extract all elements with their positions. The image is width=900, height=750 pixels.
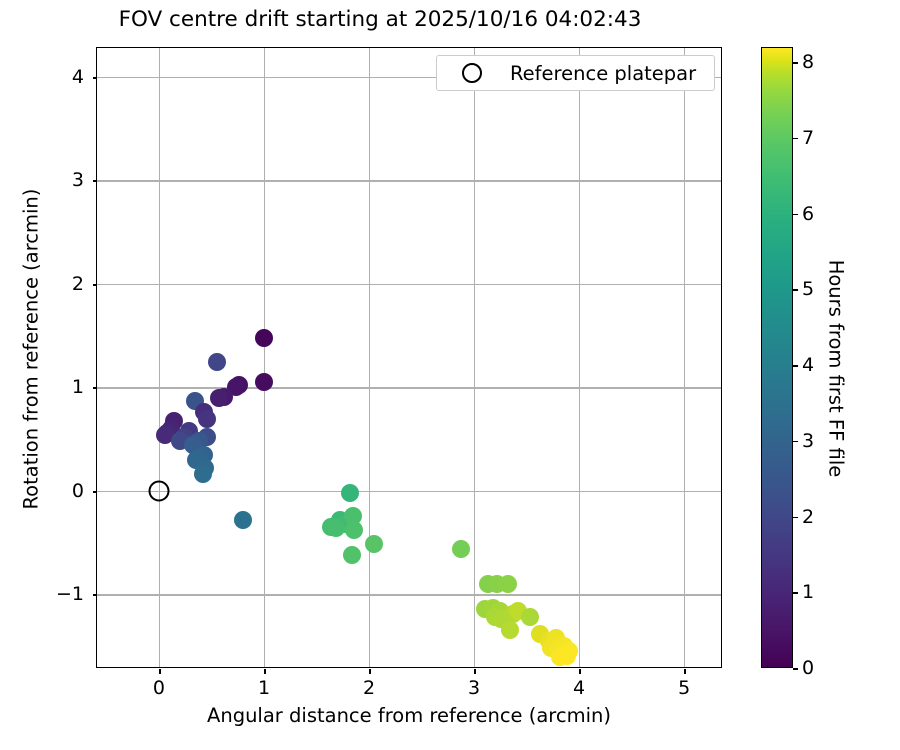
gridline-horizontal (97, 180, 721, 181)
colorbar-gradient (761, 47, 793, 668)
scatter-point (194, 465, 212, 483)
colorbar-tick-label: 4 (802, 354, 814, 376)
colorbar-tick-label: 8 (802, 51, 814, 73)
x-tick (579, 669, 581, 674)
scatter-point (345, 521, 363, 539)
reference-platepar-marker (148, 480, 169, 501)
gridline-vertical (264, 48, 265, 667)
plot-axes: 012345−101234 (96, 47, 722, 668)
gridline-vertical (579, 48, 580, 667)
scatter-point (234, 511, 252, 529)
y-tick-label: −1 (56, 583, 84, 605)
y-tick-label: 2 (72, 273, 84, 295)
scatter-point (255, 329, 273, 347)
gridline-vertical (684, 48, 685, 667)
colorbar-tick-label: 7 (802, 127, 814, 149)
y-tick (93, 491, 98, 493)
colorbar-tick (793, 592, 798, 594)
gridline-horizontal (97, 491, 721, 492)
x-tick (369, 669, 371, 674)
x-tick (264, 669, 266, 674)
scatter-point (499, 575, 517, 593)
colorbar-tick-label: 0 (802, 657, 814, 679)
scatter-point (501, 621, 519, 639)
colorbar-tick (793, 668, 798, 670)
legend-reference-circle-icon (462, 63, 482, 83)
y-tick-label: 4 (72, 66, 84, 88)
scatter-point (327, 519, 345, 537)
scatter-point (210, 389, 228, 407)
scatter-point (208, 353, 226, 371)
x-tick (159, 669, 161, 674)
x-axis-label: Angular distance from reference (arcmin) (96, 704, 722, 727)
colorbar-tick (793, 441, 798, 443)
y-tick (93, 77, 98, 79)
colorbar-tick-label: 3 (802, 430, 814, 452)
colorbar-tick-label: 5 (802, 278, 814, 300)
colorbar-tick-label: 1 (802, 581, 814, 603)
y-tick (93, 180, 98, 182)
colorbar-tick (793, 365, 798, 367)
gridline-horizontal (97, 284, 721, 285)
gridline-horizontal (97, 594, 721, 595)
scatter-point (558, 647, 576, 665)
y-tick-label: 3 (72, 169, 84, 191)
colorbar-tick (793, 289, 798, 291)
x-tick-label: 4 (573, 677, 585, 699)
y-tick-label: 0 (72, 480, 84, 502)
x-tick-label: 0 (153, 677, 165, 699)
page-title: FOV centre drift starting at 2025/10/16 … (0, 7, 760, 32)
scatter-point (255, 373, 273, 391)
y-tick-label: 1 (72, 376, 84, 398)
scatter-point (198, 410, 216, 428)
scatter-point (521, 608, 539, 626)
y-tick (93, 387, 98, 389)
scatter-point (452, 540, 470, 558)
legend-label: Reference platepar (510, 62, 696, 85)
x-tick (474, 669, 476, 674)
colorbar-tick (793, 517, 798, 519)
x-tick-label: 3 (468, 677, 480, 699)
colorbar-tick (793, 214, 798, 216)
colorbar-tick (793, 138, 798, 140)
scatter-point (341, 484, 359, 502)
colorbar-tick (793, 62, 798, 64)
x-tick (684, 669, 686, 674)
y-axis-label: Rotation from reference (arcmin) (20, 200, 43, 510)
gridline-vertical (474, 48, 475, 667)
x-tick-label: 2 (363, 677, 375, 699)
legend: Reference platepar (436, 55, 715, 91)
x-tick-label: 1 (258, 677, 270, 699)
colorbar-tick-label: 6 (802, 203, 814, 225)
y-tick (93, 284, 98, 286)
gridline-vertical (159, 48, 160, 667)
colorbar: 012345678 (761, 47, 793, 668)
scatter-point (343, 546, 361, 564)
x-tick-label: 5 (678, 677, 690, 699)
gridline-vertical (369, 48, 370, 667)
colorbar-label: Hours from first FF file (825, 199, 848, 539)
gridline-horizontal (97, 387, 721, 388)
y-tick (93, 594, 98, 596)
scatter-point (365, 535, 383, 553)
colorbar-tick-label: 2 (802, 506, 814, 528)
